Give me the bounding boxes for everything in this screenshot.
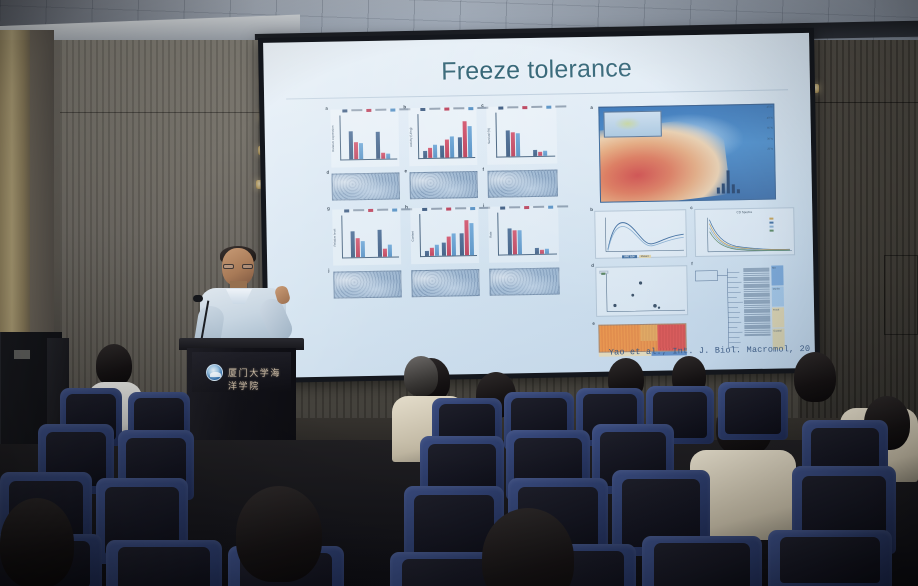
auditorium-seat (106, 540, 222, 586)
panel-letter-i: i (483, 203, 484, 208)
projection-screen-frame: Freeze tolerance a Relat (258, 28, 820, 383)
auditorium-photo: Freeze tolerance a Relat (0, 0, 918, 586)
melting-curve-svg (595, 210, 688, 260)
map-inset-landmass (615, 117, 641, 130)
attendee-head (794, 352, 836, 402)
panel-letter-h: h (405, 204, 408, 209)
podium-front-face: 厦门大学海洋学院 (192, 352, 291, 392)
bar-series-group (344, 216, 398, 257)
legend-item (769, 220, 791, 223)
panel-letter-a: a (325, 106, 328, 111)
slide-figure-area: a Relative expression (280, 95, 801, 366)
attendee-head (404, 356, 438, 396)
scatter-svg (596, 266, 689, 318)
panel-letter-f: f (482, 167, 484, 172)
wall-access-panel (884, 255, 918, 335)
bar-chart-panel-h: Content (410, 207, 479, 264)
attendee-head-foreground (0, 498, 74, 586)
bar-series-group (422, 215, 476, 256)
panel-letter-curve: b (590, 207, 593, 212)
projection-screen: Freeze tolerance a Relat (263, 33, 815, 378)
tree-row-ticks (743, 268, 771, 352)
auditorium-seat (642, 536, 762, 586)
panel-letter-b: b (403, 104, 406, 109)
panel-letter-map: a (590, 105, 593, 110)
tree-clade-band: Marine (772, 286, 784, 306)
histology-micrograph (487, 170, 557, 198)
chart-legend (500, 205, 568, 210)
glasses-icon (223, 264, 253, 269)
distribution-map: 45°N40°N35°N30°N25°N (598, 104, 776, 203)
chart-legend (498, 105, 566, 110)
wall-panel-seam (60, 112, 280, 113)
histology-micrograph (333, 270, 401, 298)
histology-micrograph (409, 171, 477, 199)
legend-item (770, 224, 792, 227)
chart-legend (344, 208, 412, 213)
y-axis-label: Relative level (332, 221, 337, 255)
bar-chart-panel-b: Activity (U/mg) (408, 107, 477, 166)
panel-letter-j: j (328, 268, 329, 273)
university-seal-icon (206, 364, 223, 381)
histology-micrograph (489, 268, 559, 296)
y-axis-label: Relative expression (331, 122, 336, 156)
y-axis-label: Content (410, 219, 415, 253)
curve-legend: Wild type Mutant (622, 255, 651, 259)
bar-series-group (342, 116, 396, 159)
pca-scatter-plot (595, 265, 688, 317)
y-axis (339, 116, 341, 161)
panel-letter-g: g (327, 206, 330, 211)
microphone-icon (193, 295, 203, 302)
bar-chart-panel-c: Survival (%) (486, 106, 557, 165)
panel-letter-spectra: c (690, 205, 693, 210)
histology-micrograph (411, 269, 479, 297)
y-axis-label: Rate (488, 218, 493, 252)
map-bar-overlay (716, 167, 739, 193)
panel-letter-heatmap: e (592, 321, 595, 326)
y-axis-label: Activity (U/mg) (409, 120, 414, 154)
y-axis (419, 214, 421, 257)
bar-series-group (498, 114, 554, 157)
attendee-head-foreground (236, 486, 322, 582)
scatter-legend (599, 271, 608, 274)
cd-spectra-plot: CD Spectra (694, 207, 795, 257)
bar-chart-panel-g: Relative level (332, 208, 401, 265)
figure-left-panels: a Relative expression (328, 101, 565, 355)
bar-chart-panel-i: Rate (488, 206, 559, 263)
legend-item (769, 216, 791, 219)
y-axis (497, 213, 499, 256)
wall-panel-seam (806, 102, 918, 103)
panel-letter-scatter: d (591, 263, 594, 268)
phylogenetic-tree-panel: MX Marine Fresh Coastal (693, 263, 801, 353)
slide-title: Freeze tolerance (263, 51, 809, 90)
bar-series-group (500, 214, 556, 255)
tree-clade-band: Fresh (772, 307, 784, 327)
chart-legend (342, 108, 410, 113)
y-axis-label: Survival (%) (487, 119, 492, 153)
spectra-legend (769, 216, 791, 232)
bar-chart-panel-a: Relative expression (330, 108, 399, 167)
podium-institution-text: 厦门大学海洋学院 (228, 366, 291, 392)
auditorium-seat (768, 530, 892, 586)
panel-letter-c: c (481, 103, 484, 108)
panel-letter-d: d (326, 170, 329, 175)
y-axis (341, 215, 343, 258)
attendee-head (96, 344, 132, 386)
y-axis (417, 114, 419, 159)
tree-clade-band: MX (771, 265, 783, 285)
y-axis (495, 113, 497, 158)
figure-right-panels: a 45°N40°N35°N30°N25°N (580, 95, 805, 355)
panel-letter-e: e (404, 168, 407, 173)
map-inset-world (603, 111, 661, 138)
histology-micrograph (331, 172, 399, 200)
melting-curve-plot: Wild type Mutant (594, 209, 687, 259)
heatmap-block-tan (641, 325, 658, 341)
legend-item (770, 228, 792, 231)
bar-series-group (420, 115, 474, 158)
chart-legend (420, 107, 488, 112)
auditorium-seat (718, 382, 788, 440)
equipment-label (14, 350, 30, 359)
map-axis-ticks: 45°N40°N35°N30°N25°N (763, 107, 774, 197)
chart-legend (422, 207, 490, 212)
